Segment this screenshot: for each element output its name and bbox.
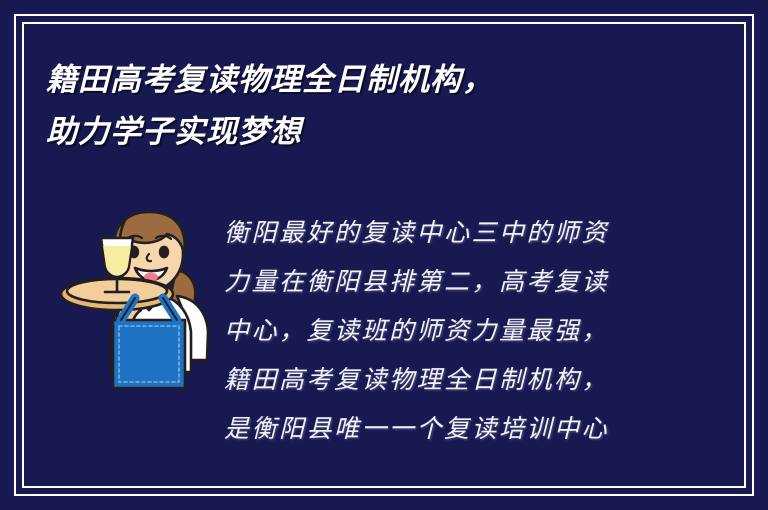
headline-line-2: 助力学子实现梦想 xyxy=(46,106,646,158)
headline-block: 籍田高考复读物理全日制机构， 助力学子实现梦想 xyxy=(46,54,646,158)
body-line-5: 是衡阳县唯一一个复读培训中心 xyxy=(224,404,654,453)
waitress-illustration xyxy=(55,192,235,412)
body-line-3: 中心，复读班的师资力量最强， xyxy=(224,306,654,355)
body-line-2: 力量在衡阳县排第二，高考复读 xyxy=(224,257,654,306)
poster-canvas: 籍田高考复读物理全日制机构， 助力学子实现梦想 衡阳最好的复读中心三中的师资 力… xyxy=(0,0,768,510)
body-line-4: 籍田高考复读物理全日制机构， xyxy=(224,355,654,404)
body-line-1: 衡阳最好的复读中心三中的师资 xyxy=(224,208,654,257)
body-text-block: 衡阳最好的复读中心三中的师资 力量在衡阳县排第二，高考复读 中心，复读班的师资力… xyxy=(224,208,654,453)
headline-line-1: 籍田高考复读物理全日制机构， xyxy=(46,54,646,106)
